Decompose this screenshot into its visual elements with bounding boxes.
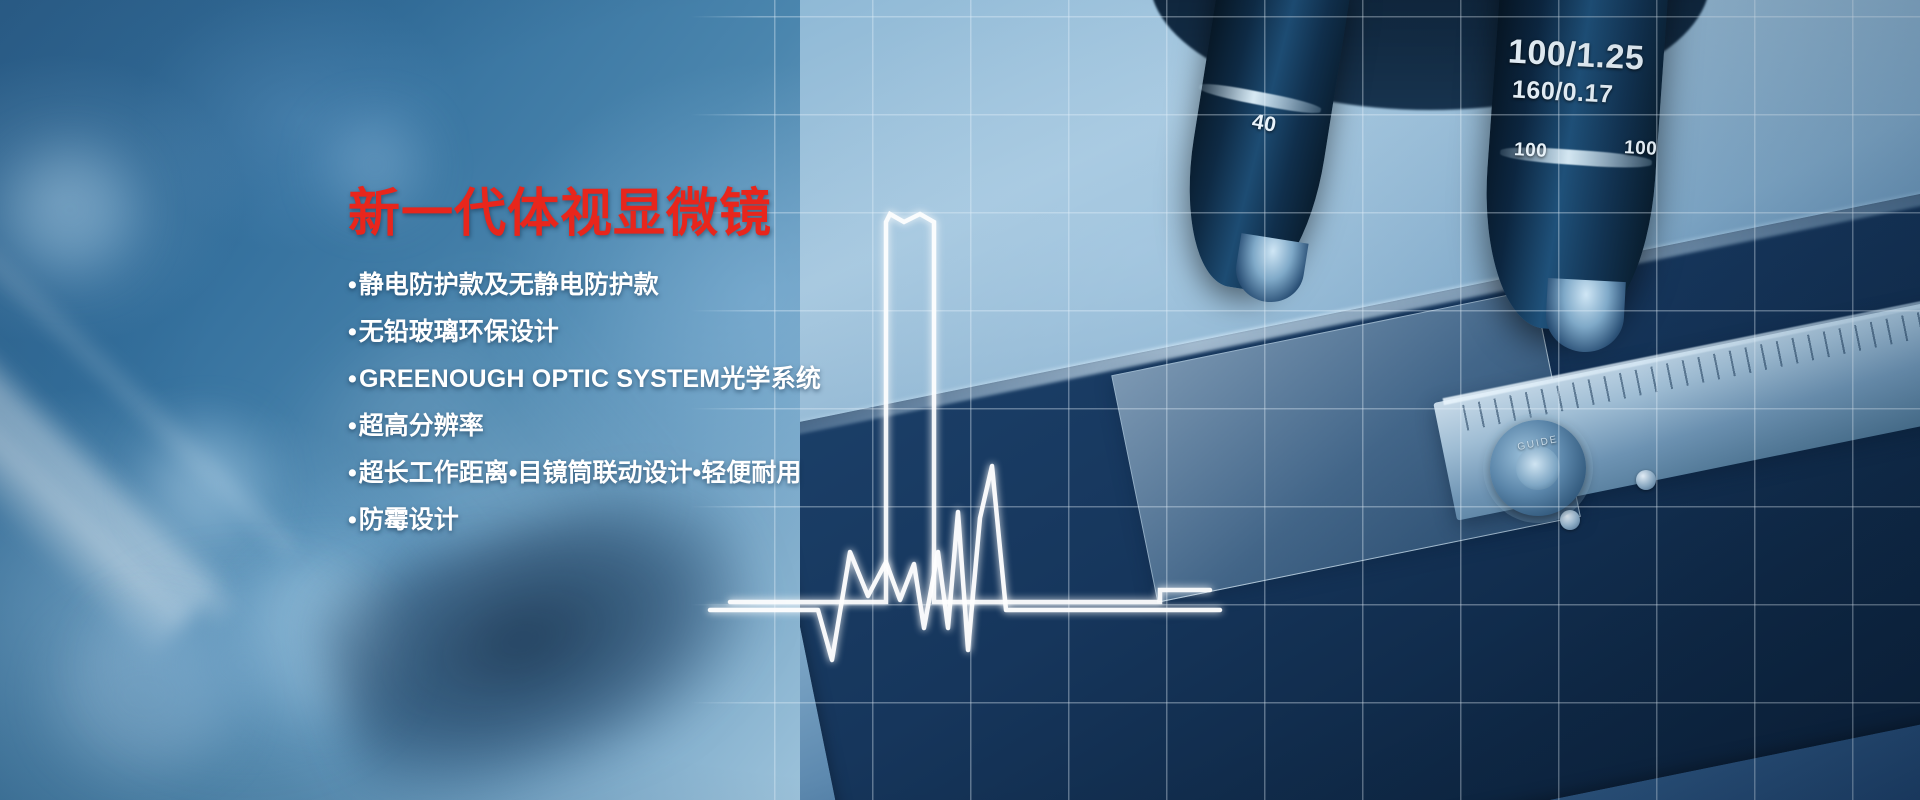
list-item: •超高分辨率 (348, 414, 988, 439)
objective-right-aperture: 100/1.25 (1507, 32, 1645, 78)
product-banner: GUIDE 40 100/1.25 160/0.17 100 100 (0, 0, 1920, 800)
bullet-marker-icon: • (348, 365, 357, 393)
list-item: •GREENOUGH OPTIC SYSTEM光学系统 (348, 367, 988, 392)
list-item-label: 无铅玻璃环保设计 (359, 318, 559, 346)
objective-left-magnification: 40 (1250, 110, 1278, 138)
page-title: 新一代体视显微镜 (348, 186, 988, 243)
list-item-label: GREENOUGH OPTIC SYSTEM光学系统 (359, 365, 821, 393)
list-item: •超长工作距离•目镜筒联动设计•轻便耐用 (348, 461, 988, 486)
bullet-marker-icon: • (348, 271, 357, 299)
screw-icon (1560, 510, 1580, 530)
bullet-marker-icon: • (348, 459, 357, 487)
list-item: •静电防护款及无静电防护款 (348, 273, 988, 298)
objective-right-tube: 160/0.17 (1511, 75, 1614, 109)
bullet-marker-icon: • (348, 506, 357, 534)
screw-icon (1636, 470, 1656, 490)
list-item-label: 超高分辨率 (359, 412, 484, 440)
banner-copy: 新一代体视显微镜 •静电防护款及无静电防护款 •无铅玻璃环保设计 •GREENO… (348, 186, 988, 555)
objective-ring-label-right: 100 (1623, 137, 1657, 161)
objective-ring-label-left: 100 (1513, 139, 1547, 163)
list-item-label: 超长工作距离•目镜筒联动设计•轻便耐用 (359, 459, 802, 487)
list-item-label: 防霉设计 (359, 506, 459, 534)
list-item-label: 静电防护款及无静电防护款 (359, 271, 659, 299)
bullet-marker-icon: • (348, 412, 357, 440)
list-item: •防霉设计 (348, 508, 988, 533)
bullet-marker-icon: • (348, 318, 357, 346)
list-item: •无铅玻璃环保设计 (348, 320, 988, 345)
feature-list: •静电防护款及无静电防护款 •无铅玻璃环保设计 •GREENOUGH OPTIC… (348, 273, 988, 533)
